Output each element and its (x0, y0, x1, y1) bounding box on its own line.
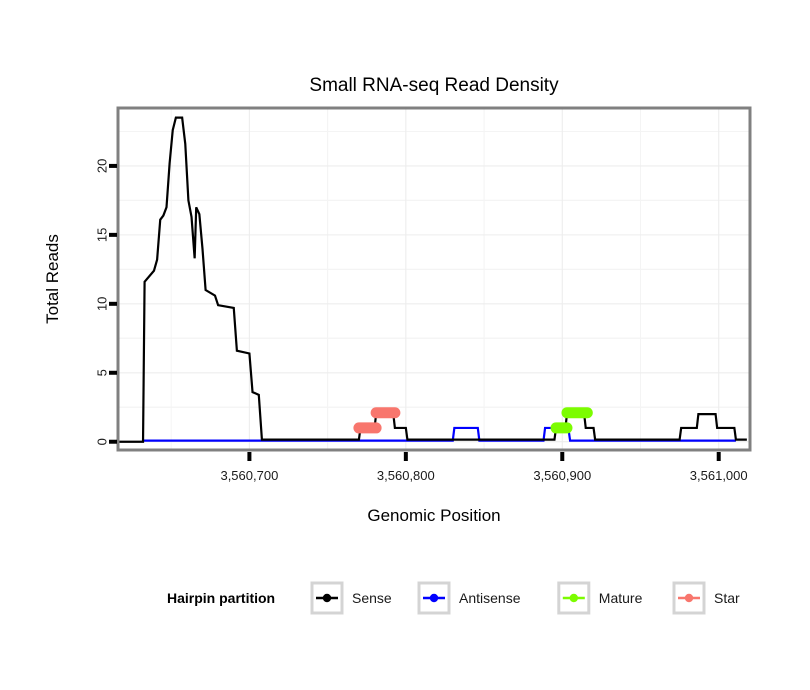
legend-key-point (323, 594, 331, 602)
y-tick-label: 0 (94, 438, 109, 445)
chart-title: Small RNA-seq Read Density (309, 75, 559, 96)
x-tick-label: 3,560,700 (220, 468, 278, 483)
legend-title: Hairpin partition (167, 590, 275, 606)
x-tick-label: 3,560,800 (377, 468, 435, 483)
legend-label: Star (714, 590, 740, 606)
y-tick-label: 20 (94, 159, 109, 173)
legend-key-point (570, 594, 578, 602)
legend-label: Mature (599, 590, 643, 606)
x-tick-label: 3,561,000 (690, 468, 748, 483)
panel-background (118, 108, 750, 450)
y-tick-label: 15 (94, 228, 109, 242)
legend-label: Antisense (459, 590, 521, 606)
legend-key-point (430, 594, 438, 602)
y-tick-label: 5 (94, 369, 109, 376)
y-axis-label: Total Reads (43, 234, 62, 324)
legend-label: Sense (352, 590, 392, 606)
y-tick-label: 10 (94, 297, 109, 311)
legend-key-point (685, 594, 693, 602)
plot-panel: 051015203,560,7003,560,8003,560,9003,561… (94, 108, 750, 483)
x-axis-label: Genomic Position (367, 506, 500, 525)
chart-figure: Small RNA-seq Read Density 051015203,560… (0, 0, 810, 690)
read-density-chart: Small RNA-seq Read Density 051015203,560… (0, 0, 810, 690)
x-tick-label: 3,560,900 (533, 468, 591, 483)
